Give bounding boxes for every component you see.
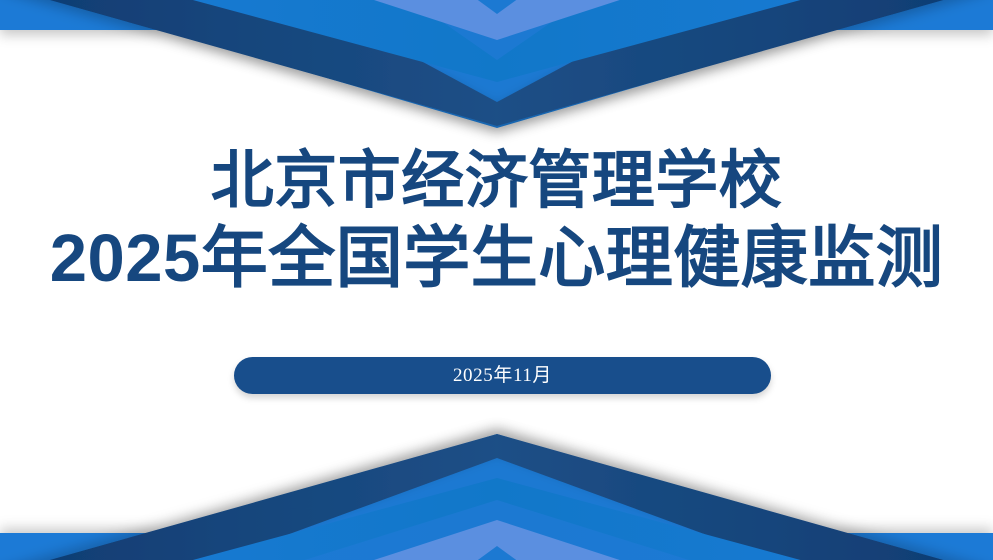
top-mid-blue-chevron (0, 0, 993, 82)
date-badge-label: 2025年11月 (453, 366, 552, 385)
top-outer-band (0, 0, 993, 128)
presentation-title-slide: 北京市经济管理学校 2025年全国学生心理健康监测 2025年11月 (0, 0, 993, 560)
title-line-2: 2025年全国学生心理健康监测 (0, 225, 993, 292)
bottom-outer-band (0, 434, 993, 560)
bottom-light-blue-chevron (128, 520, 865, 560)
bottom-navy-chevron (0, 434, 993, 560)
top-light-blue-chevron (128, 0, 865, 40)
slide-title: 北京市经济管理学校 2025年全国学生心理健康监测 (0, 150, 993, 292)
title-line-1: 北京市经济管理学校 (0, 150, 993, 213)
bottom-mid-blue-chevron (0, 478, 993, 560)
date-badge: 2025年11月 (234, 357, 771, 394)
top-navy-chevron (0, 0, 993, 126)
